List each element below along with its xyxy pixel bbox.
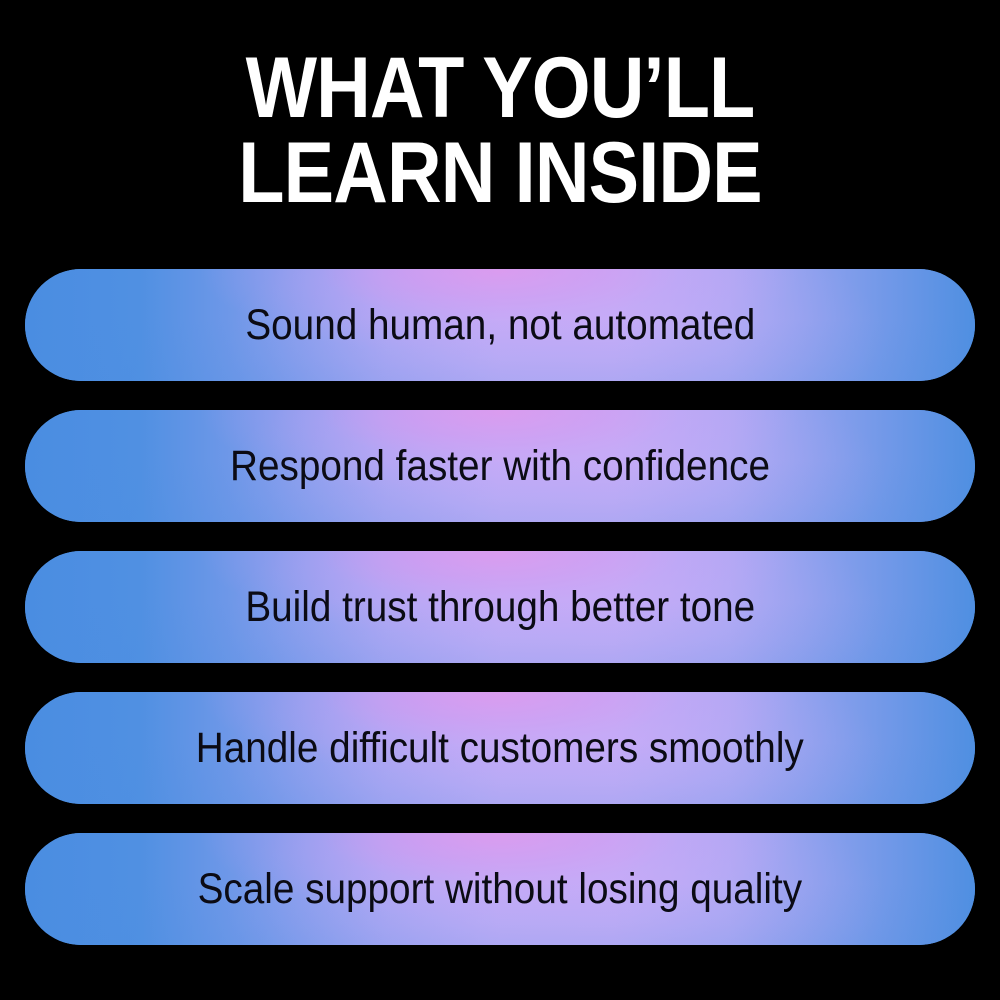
- benefit-pill-label: Sound human, not automated: [245, 304, 755, 347]
- poster-canvas: WHAT YOU’LL LEARN INSIDE Sound human, no…: [0, 0, 1000, 1000]
- benefit-pill-4[interactable]: Handle difficult customers smoothly: [25, 692, 975, 804]
- benefit-pill-label: Handle difficult customers smoothly: [196, 727, 804, 770]
- page-title: WHAT YOU’LL LEARN INSIDE: [60, 46, 940, 216]
- page-title-line-1: WHAT YOU’LL: [60, 46, 940, 131]
- benefit-pill-label: Scale support without losing quality: [198, 868, 803, 911]
- benefit-pill-1[interactable]: Sound human, not automated: [25, 269, 975, 381]
- benefit-pill-3[interactable]: Build trust through better tone: [25, 551, 975, 663]
- benefit-pill-2[interactable]: Respond faster with confidence: [25, 410, 975, 522]
- benefit-pill-list: Sound human, not automated Respond faste…: [25, 269, 975, 974]
- benefit-pill-5[interactable]: Scale support without losing quality: [25, 833, 975, 945]
- page-title-line-2: LEARN INSIDE: [60, 131, 940, 216]
- benefit-pill-label: Respond faster with confidence: [230, 445, 770, 488]
- benefit-pill-label: Build trust through better tone: [245, 586, 755, 629]
